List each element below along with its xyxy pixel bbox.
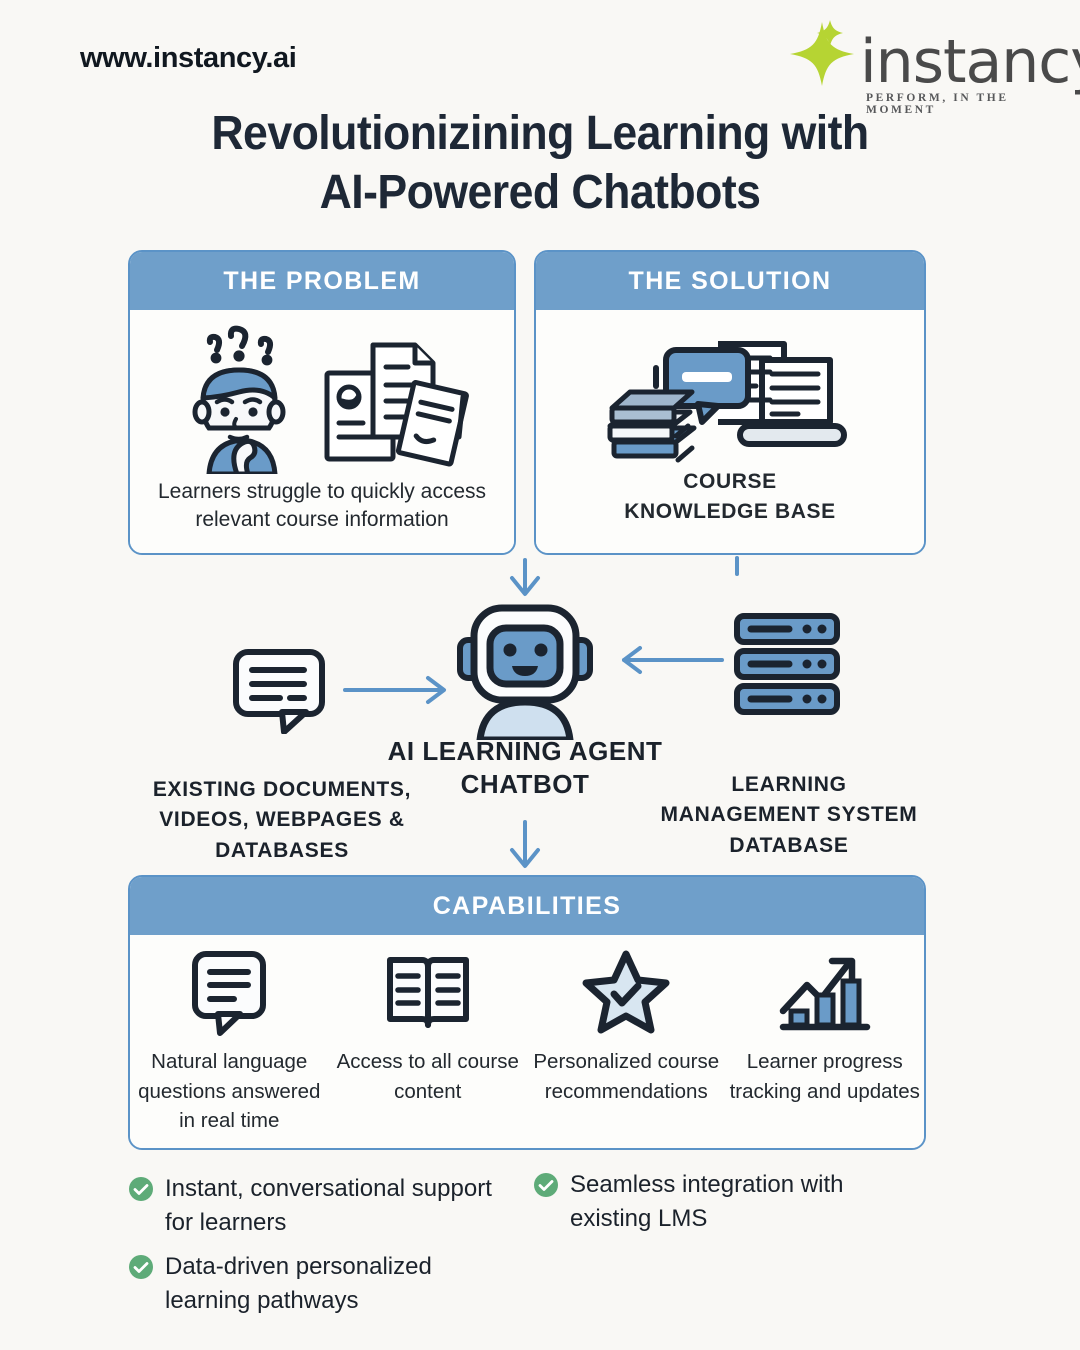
benefit-item: Instant, conversational support for lear… — [128, 1172, 495, 1240]
benefit-label: Instant, conversational support for lear… — [165, 1172, 495, 1240]
check-circle-icon — [128, 1176, 154, 1202]
lms-source-line2: MANAGEMENT SYSTEM — [630, 800, 948, 830]
capabilities-card-heading: CAPABILITIES — [130, 877, 924, 935]
open-book-icon — [333, 947, 524, 1039]
growth-chart-icon — [730, 947, 921, 1039]
capabilities-card-body: Natural language questions answered in r… — [130, 935, 924, 1148]
check-circle-icon — [128, 1254, 154, 1280]
speech-bubble-lines-icon — [232, 648, 332, 734]
documents-source-line2: VIDEOS, WEBPAGES & — [118, 805, 446, 835]
capability-item: Access to all course content — [329, 947, 528, 1136]
benefits-list: Instant, conversational support for lear… — [128, 1172, 958, 1332]
speech-bubble-icon — [134, 947, 325, 1039]
documents-source-label: EXISTING DOCUMENTS, VIDEOS, WEBPAGES & D… — [118, 775, 446, 866]
benefit-item: Seamless integration with existing LMS — [533, 1168, 900, 1236]
lms-source-line3: DATABASE — [630, 831, 948, 861]
robot-chatbot-icon — [452, 600, 598, 740]
capabilities-card: CAPABILITIES Natural language questions … — [128, 875, 926, 1150]
documents-source-line1: EXISTING DOCUMENTS, — [118, 775, 446, 805]
benefit-label: Seamless integration with existing LMS — [570, 1168, 900, 1236]
capability-item: Learner progress tracking and updates — [726, 947, 925, 1136]
capability-label: Access to all course content — [333, 1047, 524, 1106]
chatbot-label-line1: AI LEARNING AGENT — [355, 735, 695, 768]
capability-label: Personalized course recommendations — [531, 1047, 722, 1106]
capability-label: Natural language questions answered in r… — [134, 1047, 325, 1136]
check-circle-icon — [533, 1172, 559, 1198]
star-check-icon — [531, 947, 722, 1039]
documents-source-line3: DATABASES — [118, 836, 446, 866]
server-database-icon — [733, 612, 843, 716]
benefit-label: Data-driven personalized learning pathwa… — [165, 1250, 495, 1318]
lms-source-line1: LEARNING — [630, 770, 948, 800]
lms-source-label: LEARNING MANAGEMENT SYSTEM DATABASE — [630, 770, 948, 861]
capabilities-grid: Natural language questions answered in r… — [130, 947, 924, 1136]
capability-label: Learner progress tracking and updates — [730, 1047, 921, 1106]
capability-item: Natural language questions answered in r… — [130, 947, 329, 1136]
capability-item: Personalized course recommendations — [527, 947, 726, 1136]
benefit-item: Data-driven personalized learning pathwa… — [128, 1250, 495, 1318]
